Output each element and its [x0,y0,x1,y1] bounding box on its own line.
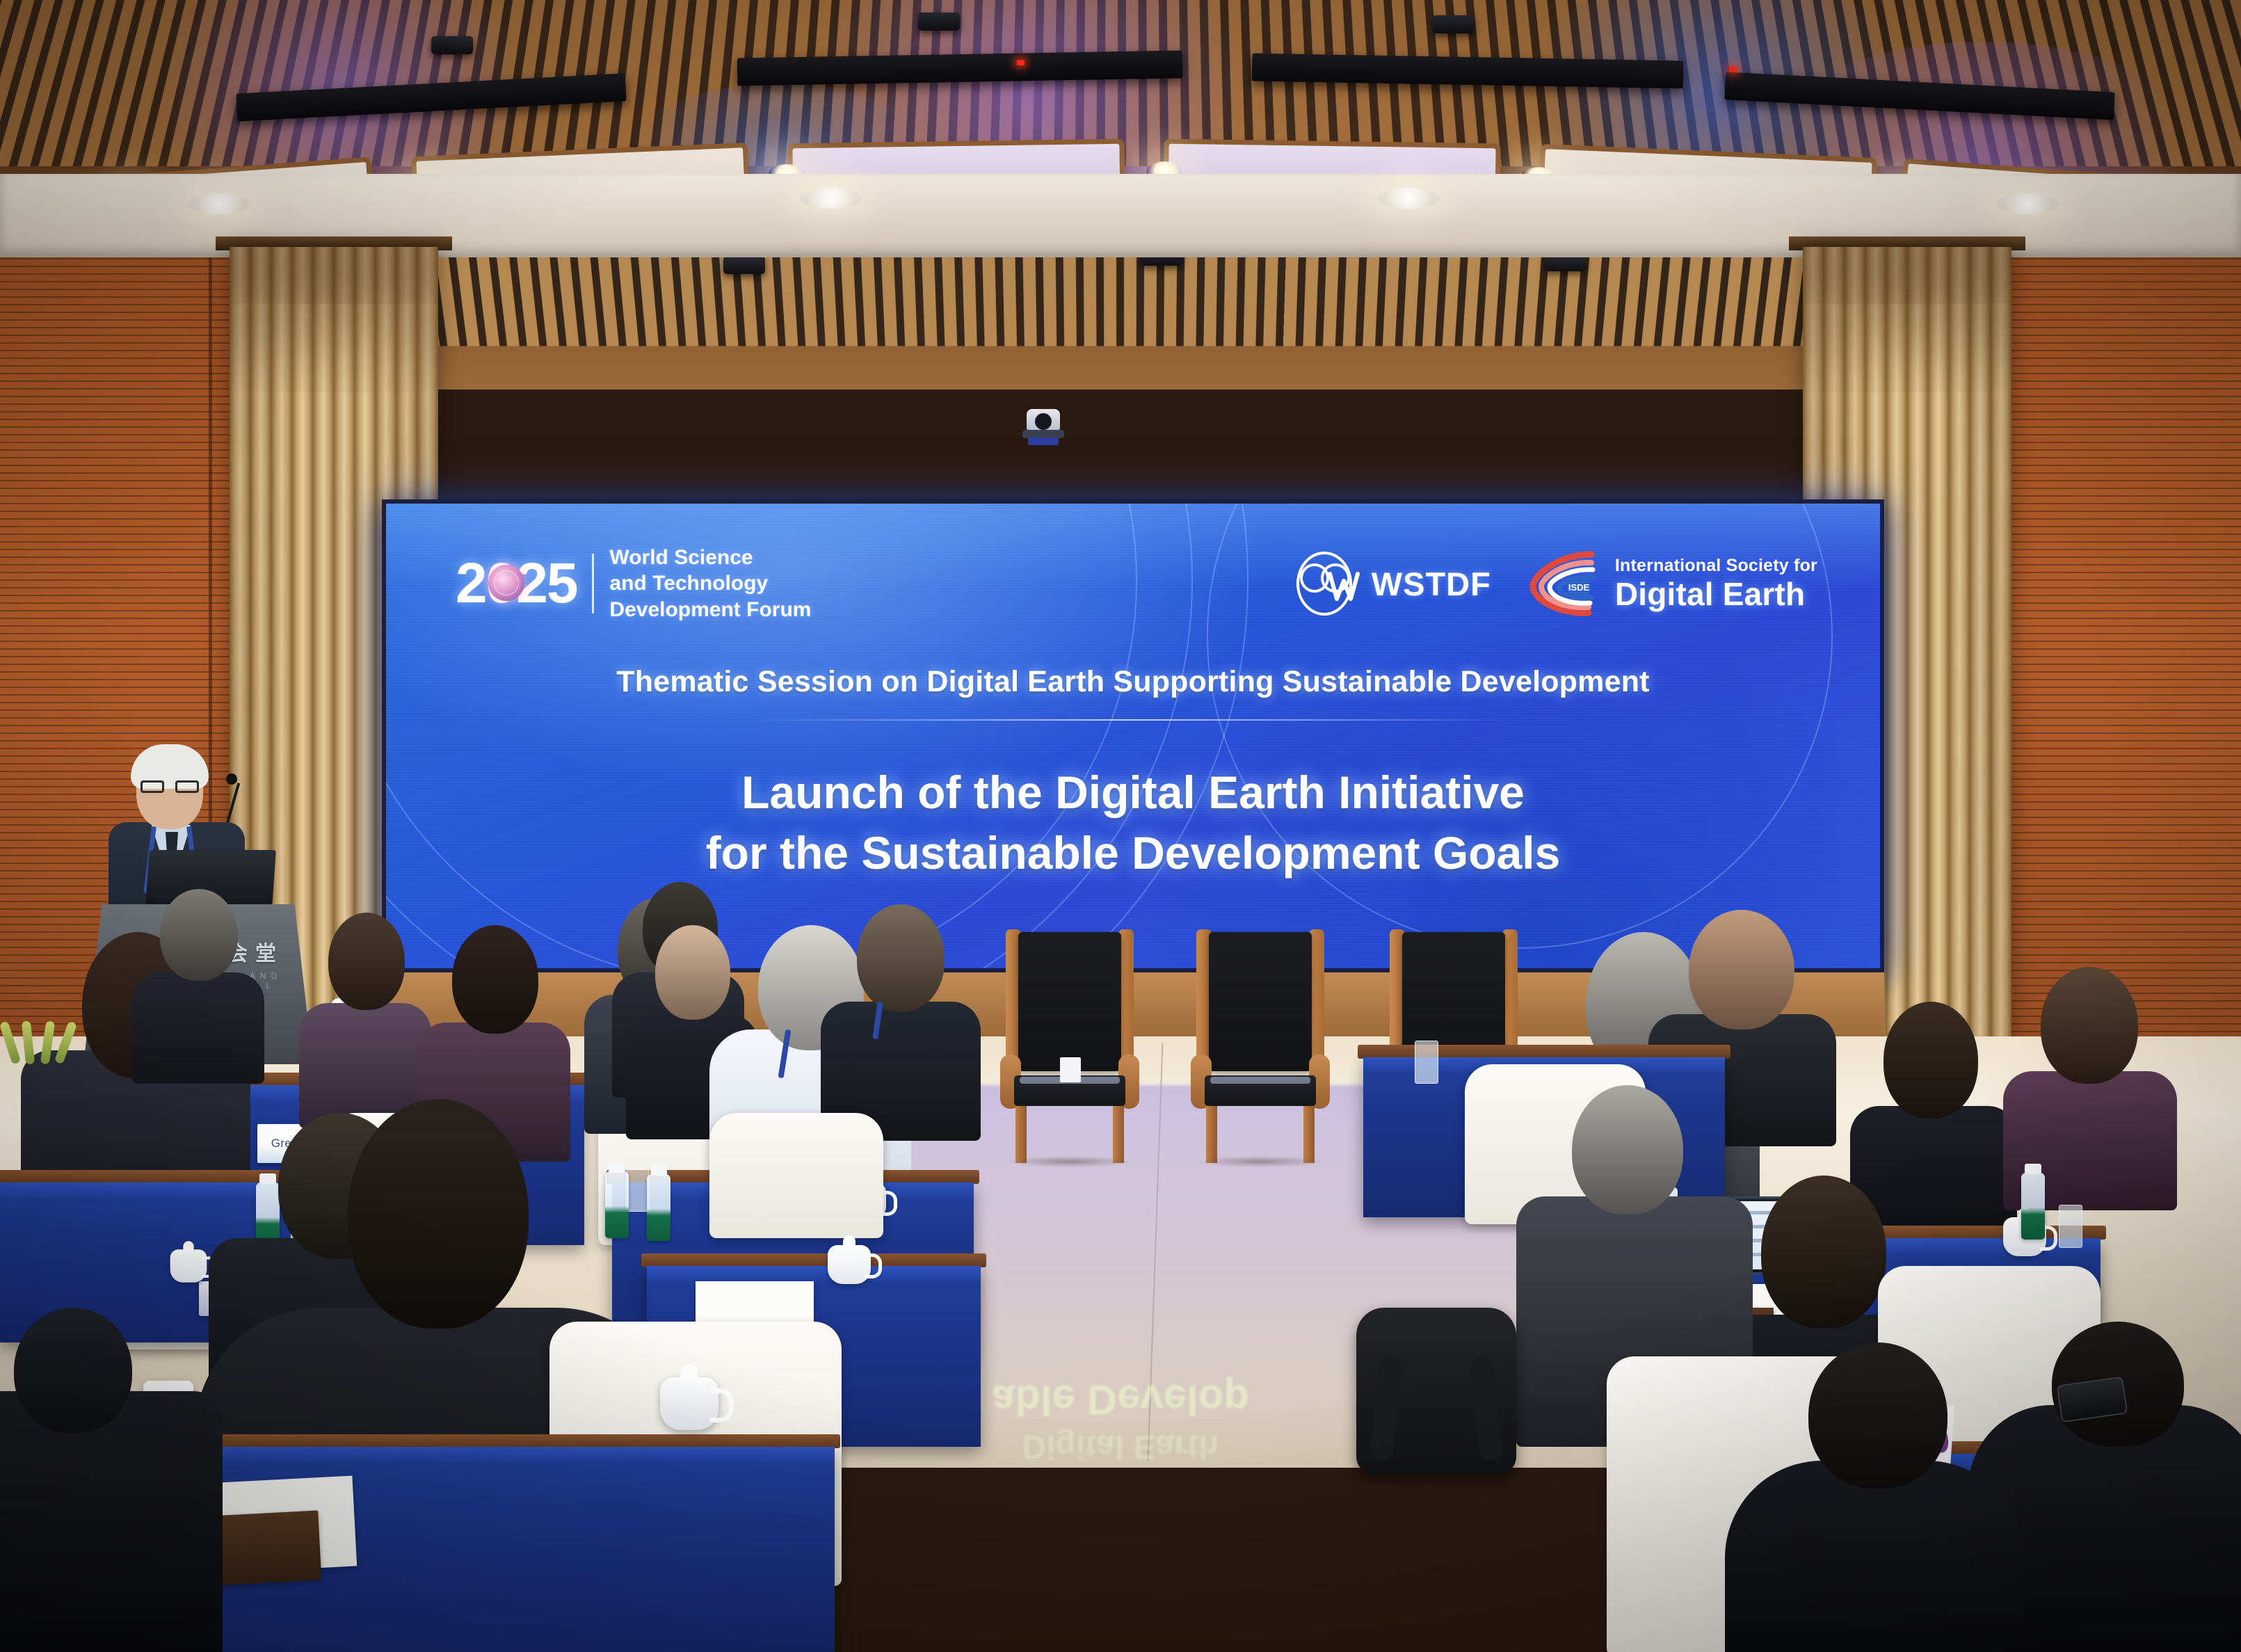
soffit-downlight-icon [800,188,862,209]
forum-name: World Science and Technology Development… [609,545,811,623]
stage-spotlight [918,13,960,31]
truss-indicator-led [1017,60,1025,65]
forum-name-line-3: Development Forum [609,597,811,623]
audience-person-foreground [1725,1342,2024,1652]
wstdf-logo: WSTDF [1294,550,1491,617]
chair-cover [709,1113,883,1238]
recessed-ceiling-fixture [723,256,765,274]
soffit-downlight-icon [1377,188,1440,209]
audience-person [299,913,431,1121]
isde-inner-text: ISDE [1568,582,1590,593]
teapot [828,1245,871,1284]
wstdf-logo-text: WSTDF [1372,565,1491,603]
brand-divider [592,554,594,614]
stage-chair [1191,932,1330,1162]
isde-logo-text: International Society for Digital Earth [1615,557,1817,610]
audience-person [0,1308,223,1652]
forum-brand-lockup: 2025 World Science and Technology Develo… [456,545,811,623]
stage-chair [1000,932,1139,1162]
glasses-icon [140,780,199,793]
forum-name-line-2: and Technology [609,570,811,596]
wstdf-mark-icon [1294,550,1367,617]
session-title: Launch of the Digital Earth Initiative f… [386,762,1880,883]
screen-header: 2025 World Science and Technology Develo… [456,542,1817,625]
water-glass [1415,1041,1438,1084]
isde-logo-line-2: Digital Earth [1615,578,1817,610]
audience-person [821,904,981,1134]
backpack [1356,1308,1516,1475]
truss-indicator-led [1729,67,1737,72]
year-logo: 2025 [456,555,577,612]
decorative-plant [0,1002,83,1064]
screen-divider-rule [750,719,1516,721]
session-subtitle: Thematic Session on Digital Earth Suppor… [386,665,1880,699]
isde-logo-line-1: International Society for [1615,557,1817,575]
isde-mark-icon: ISDE [1525,547,1607,620]
globe-orb-icon [488,565,524,601]
forum-name-line-1: World Science [609,545,811,570]
soffit-downlight-icon [1996,193,2059,214]
stage-spotlight [431,36,473,54]
stage-chair-placard [1060,1057,1081,1082]
stage-spotlight [1433,15,1475,33]
isde-logo: ISDE International Society for Digital E… [1525,547,1817,620]
conference-hall-photo: 2025 World Science and Technology Develo… [0,0,2241,1652]
water-bottle [2021,1173,2045,1240]
audience-person [132,889,264,1077]
ptz-camera-icon [1021,409,1066,445]
floor-reflection-text-2: Digital Earth [1022,1427,1219,1466]
session-title-line-1: Launch of the Digital Earth Initiative [386,762,1880,823]
partner-logos: WSTDF ISDE International Society fo [1294,547,1817,620]
floor-reflection-text-1: able Develop [992,1376,1249,1424]
water-glass [2059,1205,2082,1248]
soffit-downlight-icon [188,193,250,214]
teapot [660,1377,718,1430]
session-title-line-2: for the Sustainable Development Goals [386,823,1880,883]
